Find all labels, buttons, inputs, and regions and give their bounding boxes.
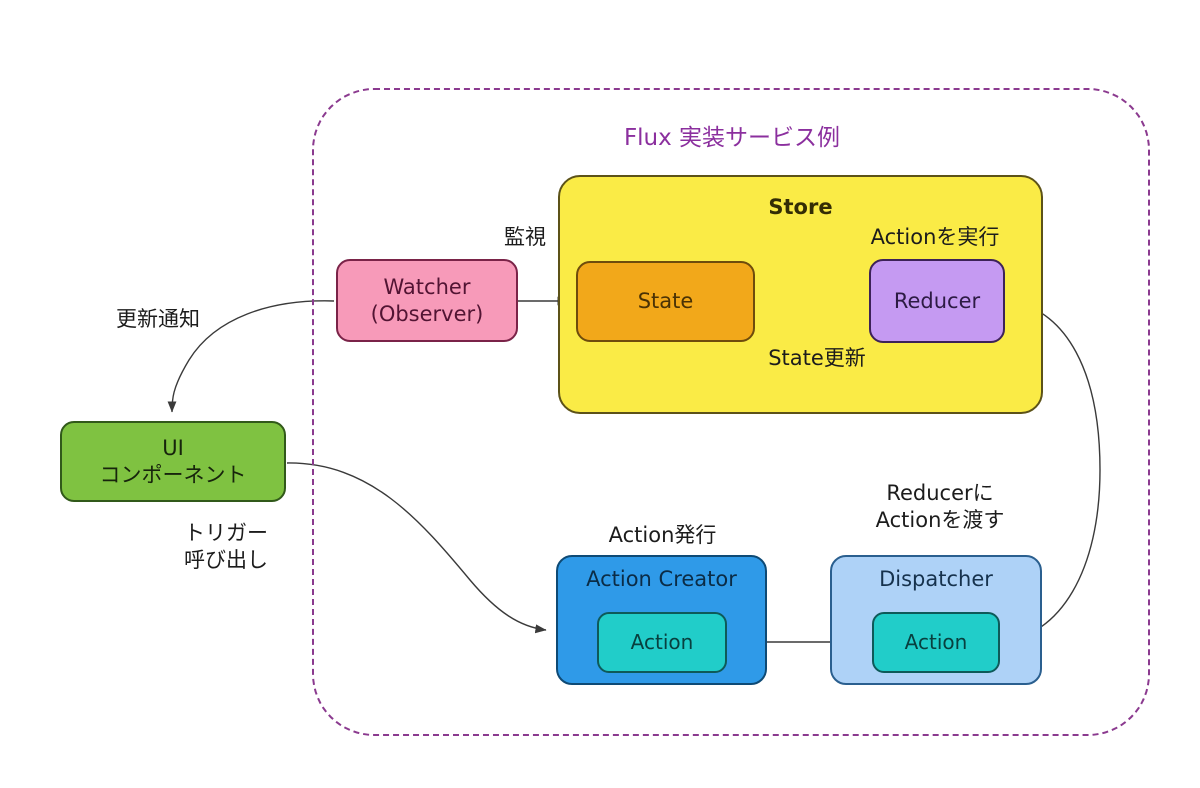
service-boundary-title: Flux 実装サービス例 (612, 120, 852, 150)
edge-label-pass-to-reducer: Reducerに Actionを渡す (845, 475, 1035, 539)
node-action-in-dispatcher[interactable]: Action (872, 612, 1000, 673)
edge-label-run-action: Actionを実行 (850, 223, 1020, 253)
node-watcher[interactable]: Watcher (Observer) (336, 259, 518, 342)
edge-label-trigger-call: トリガー 呼び出し (146, 515, 306, 579)
node-ui-component[interactable]: UI コンポーネント (60, 421, 286, 502)
edge-label-state-update: State更新 (722, 344, 912, 374)
node-state[interactable]: State (576, 261, 755, 342)
edge-label-action-issue: Action発行 (580, 521, 745, 551)
node-action-in-creator[interactable]: Action (597, 612, 727, 673)
edge-label-update-notice: 更新通知 (88, 305, 228, 335)
diagram-canvas: Flux 実装サービス例 Store State Reducer Watcher… (0, 0, 1200, 788)
edge-label-watch: 監視 (484, 224, 566, 252)
node-reducer[interactable]: Reducer (869, 259, 1005, 343)
